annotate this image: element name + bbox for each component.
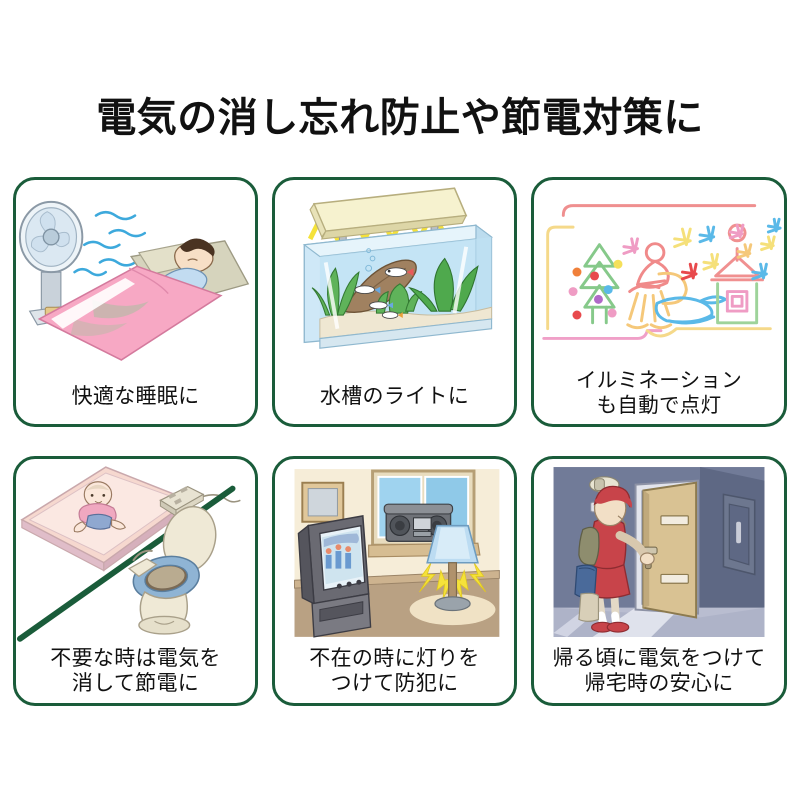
card-caption: 水槽のライトに (275, 384, 514, 410)
card-caption: 不要な時は電気を 消して節電に (16, 646, 255, 697)
living-room-with-tv-and-lamp-illustration (275, 459, 514, 645)
card-caption: 帰る頃に電気をつけて 帰宅時の安心に (534, 646, 784, 697)
card-illumination-auto[interactable]: イルミネーション も自動で点灯 (531, 177, 787, 427)
card-comfortable-sleep[interactable]: 快適な睡眠に (13, 177, 258, 427)
card-caption: 快適な睡眠に (16, 384, 255, 410)
woman-opening-apartment-door-illustration (534, 459, 784, 645)
card-lights-on-while-away[interactable]: 不在の時に灯りを つけて防犯に (272, 456, 517, 706)
poster-root: 電気の消し忘れ防止や節電対策に (0, 0, 800, 800)
aquarium-tank-with-light-illustration (275, 180, 514, 376)
card-caption: 不在の時に灯りを つけて防犯に (275, 646, 514, 697)
feature-card-grid: 快適な睡眠に (13, 177, 787, 706)
card-lights-on-before-coming-home[interactable]: 帰る頃に電気をつけて 帰宅時の安心に (531, 456, 787, 706)
neon-illumination-display-illustration (534, 180, 784, 366)
page-title: 電気の消し忘れ防止や節電対策に (0, 96, 800, 140)
card-aquarium-light[interactable]: 水槽のライトに (272, 177, 517, 427)
electric-fan-sleeping-person-illustration (16, 180, 255, 376)
card-turn-off-when-not-needed[interactable]: 不要な時は電気を 消して節電に (13, 456, 258, 706)
card-caption: イルミネーション も自動で点灯 (534, 368, 784, 418)
electric-carpet-and-toilet-seat-illustration (16, 459, 255, 645)
